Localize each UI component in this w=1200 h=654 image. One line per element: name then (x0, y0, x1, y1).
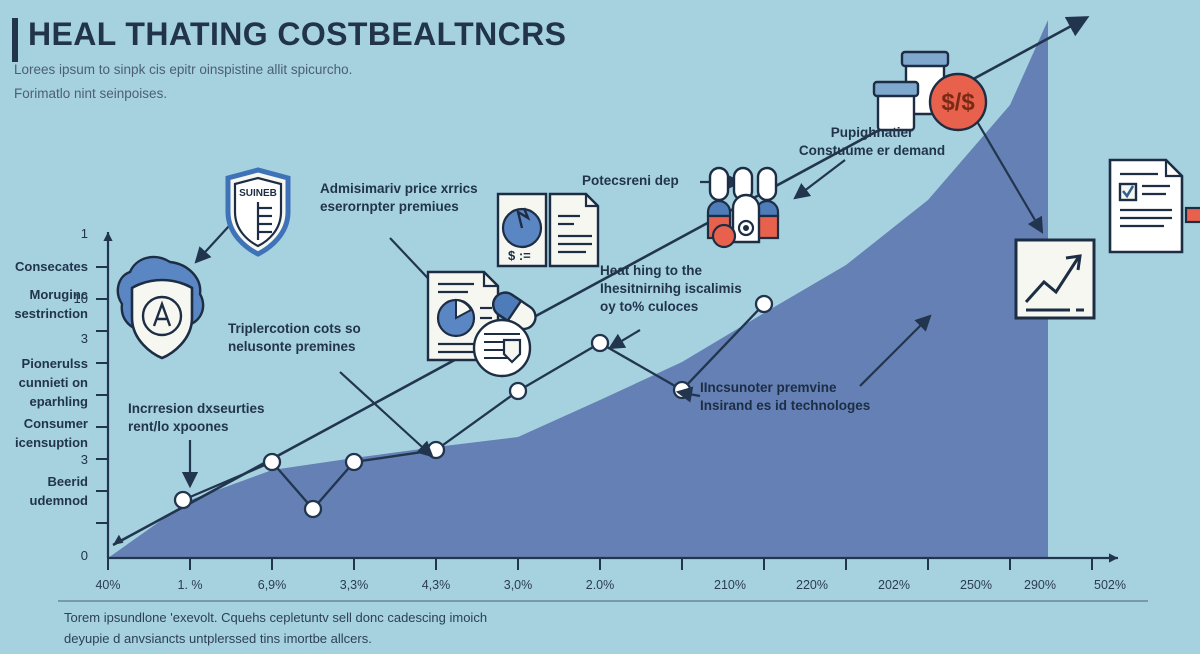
title-accent-bar (12, 18, 18, 62)
x-tick-label: 6,9% (258, 578, 287, 592)
x-tick-label: 290% (1024, 578, 1056, 592)
annotation-triple-cost: Triplercotion cots so nelusonte premines (228, 320, 361, 356)
header: HEAL THATING COSTBEALTNCRS Lorees ipsum … (0, 0, 1200, 120)
footer-divider (58, 600, 1148, 602)
x-tick-label: 3,3% (340, 578, 369, 592)
x-tick-label: 40% (95, 578, 120, 592)
x-tick-label: 210% (714, 578, 746, 592)
y-tick-label: Moruginc sestrinction (14, 286, 88, 324)
x-tick-label: 4,3% (422, 578, 451, 592)
checklist-doc-icon (1110, 160, 1200, 252)
y-tick-label: Beerid udemnod (30, 473, 89, 511)
y-tick-label: 3 (81, 452, 88, 467)
x-axis-ticks (108, 558, 1092, 570)
invoice-chart-icon: $ := (498, 194, 598, 266)
y-tick-label: 0 (81, 548, 88, 563)
y-tick-label: Consecates (15, 259, 88, 274)
people-pills-icon (708, 168, 778, 247)
x-tick-label: 202% (878, 578, 910, 592)
report-pill-icon (428, 272, 540, 376)
svg-text:SUINEB: SUINEB (239, 188, 277, 199)
shield-document-icon: SUINEB (228, 170, 288, 254)
annotation-heat-hing: Heat hing to the Ihesitnirnihg iscalimis… (600, 262, 742, 317)
annotation-incsunoter: IIncsunoter premvine Insirand es id tech… (700, 379, 870, 415)
annotation-admin-price: Admisimariv price xrrics eserornpter pre… (320, 180, 478, 216)
page-title: HEAL THATING COSTBEALTNCRS (28, 16, 566, 53)
x-tick-label: 502% (1094, 578, 1126, 592)
infographic-canvas: HEAL THATING COSTBEALTNCRS Lorees ipsum … (0, 0, 1200, 654)
annotation-pupighnatier: Pupighnatier Constuume er demand (772, 124, 972, 160)
page-subtitle: Lorees ipsum to sinpk cis epitr oinspist… (14, 58, 352, 105)
annotation-incresion: Incrresion dxseurties rent/lo xpoones (128, 400, 265, 436)
y-axis-ticks (96, 267, 108, 523)
growth-chart-icon (1016, 240, 1094, 318)
x-tick-label: 3,0% (504, 578, 533, 592)
y-tick-label: Consumer icensuption (15, 415, 88, 453)
x-tick-label: 220% (796, 578, 828, 592)
y-tick-label: 3 (81, 331, 88, 346)
y-tick-label: Pionerulss cunnieti on eparhling (19, 355, 88, 412)
y-tick-label: 1 (81, 226, 88, 241)
x-tick-label: 250% (960, 578, 992, 592)
annotation-potecsreni: Potecsreni dep (582, 172, 679, 190)
x-tick-label: 2.0% (586, 578, 615, 592)
x-tick-label: 1. % (177, 578, 202, 592)
shield-person-icon (118, 257, 203, 358)
footer-caption: Torem ipsundlone 'exevolt. Cquehs ceplet… (64, 608, 1154, 650)
svg-text:$ :=: $ := (508, 248, 531, 263)
